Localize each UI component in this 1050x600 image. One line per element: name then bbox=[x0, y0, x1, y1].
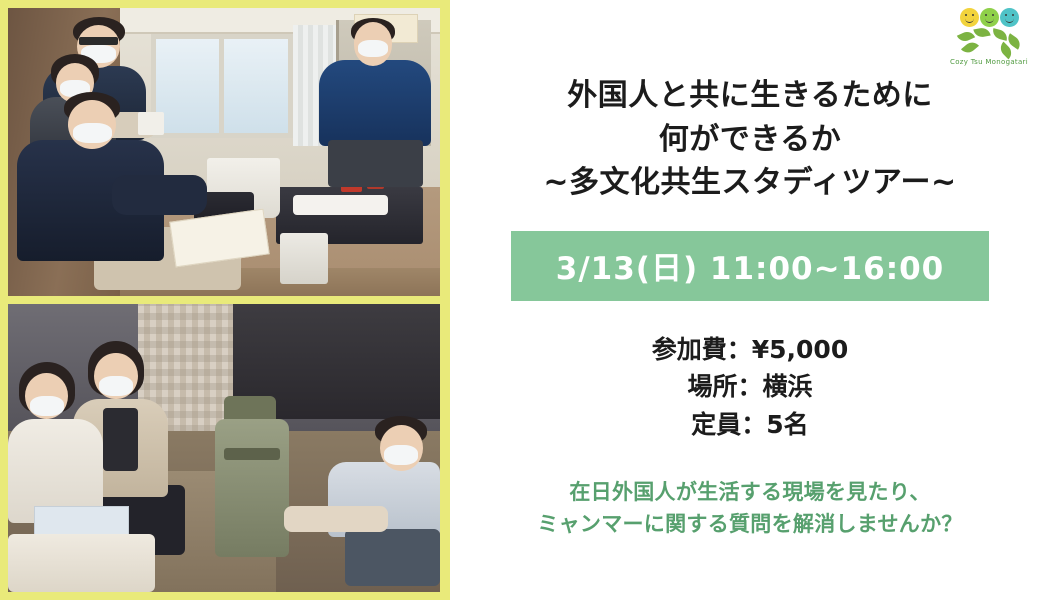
page-title: 外国人と共に生きるために 何ができるか ~多文化共生スタディツアー~ bbox=[543, 74, 956, 205]
photo2-backpack bbox=[215, 419, 288, 557]
photo-meeting-room bbox=[8, 8, 440, 296]
photo1-bin bbox=[280, 233, 328, 285]
smiley-face-icon-3 bbox=[1000, 8, 1019, 27]
photo-backpack-room bbox=[8, 304, 440, 592]
footnote-line-1: 在日外国人が生活する現場を見たり、 bbox=[537, 477, 962, 509]
logo-faces bbox=[960, 8, 1019, 27]
photo2-person-b-mask bbox=[99, 376, 134, 396]
detail-fee: 参加費：¥5,000 bbox=[652, 331, 848, 369]
photo1-person-a-body bbox=[319, 60, 431, 146]
smiley-face-icon-1 bbox=[960, 8, 979, 27]
photo1-person-a-mask bbox=[358, 40, 388, 57]
photo1-person-b-arm bbox=[112, 175, 207, 215]
photo2-person-c-mask bbox=[384, 445, 419, 465]
title-line-2: 何ができるか bbox=[543, 118, 956, 162]
photo1-person-d-cup bbox=[138, 112, 164, 135]
photo1-person-c-glasses bbox=[79, 37, 118, 46]
photo2-person-a-mask bbox=[30, 396, 65, 416]
smiley-face-icon-2 bbox=[980, 8, 999, 27]
footnote: 在日外国人が生活する現場を見たり、 ミャンマーに関する質問を解消しませんか？ bbox=[537, 477, 962, 540]
detail-capacity: 定員：5名 bbox=[652, 406, 848, 444]
community-smiley-logo: Cozy Tsu Monogatari bbox=[950, 8, 1028, 78]
date-band: 3/13(日) 11:00~16:00 bbox=[511, 231, 989, 301]
content-column: Cozy Tsu Monogatari 外国人と共に生きるために 何ができるか … bbox=[450, 0, 1050, 600]
title-line-3: ~多文化共生スタディツアー~ bbox=[543, 161, 956, 205]
photo1-window bbox=[151, 34, 294, 138]
details-block: 参加費：¥5,000 場所：横浜 定員：5名 bbox=[652, 331, 848, 444]
photo1-tray bbox=[293, 195, 388, 215]
photo2-backpack-strap bbox=[224, 448, 280, 460]
photo2-person-b-inner-top bbox=[103, 408, 138, 471]
footnote-line-2: ミャンマーに関する質問を解消しませんか？ bbox=[537, 509, 962, 541]
photo1-person-b-mask bbox=[73, 123, 112, 143]
poster: Cozy Tsu Monogatari 外国人と共に生きるために 何ができるか … bbox=[0, 0, 1050, 600]
photo2-table bbox=[8, 534, 155, 592]
photo-column bbox=[0, 0, 450, 600]
detail-place: 場所：横浜 bbox=[652, 368, 848, 406]
photo1-person-a-legs bbox=[328, 140, 423, 186]
photo2-person-c-shorts bbox=[345, 529, 440, 587]
photo2-person-c-arm bbox=[284, 506, 388, 532]
logo-leaves bbox=[954, 28, 1024, 60]
title-line-1: 外国人と共に生きるために bbox=[543, 74, 956, 118]
